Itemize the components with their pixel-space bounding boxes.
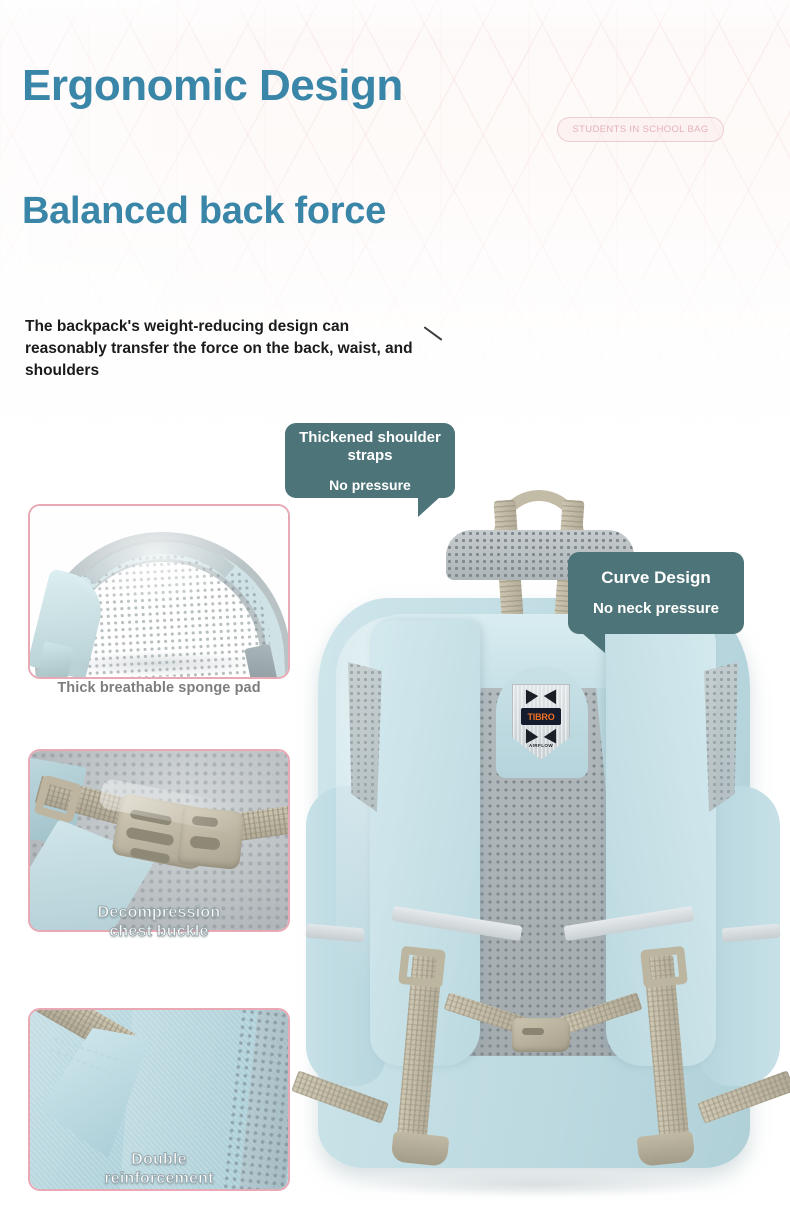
detail-panel-sponge-pad: Thick breathable sponge pad (28, 504, 290, 679)
detail-panel-chest-buckle: Decompression chest buckle (28, 749, 290, 932)
detail-image-chest-buckle (30, 751, 288, 930)
status-badge: STUDENTS IN SCHOOL BAG (557, 117, 724, 142)
detail-panel-double-reinforcement: Double reinforcement (28, 1008, 290, 1191)
chest-buckle-slot (522, 1028, 544, 1035)
page-subtitle: Balanced back force (22, 192, 386, 230)
airflow-label: AIRFLOW (529, 743, 553, 748)
brand-chip: TIBRO (521, 708, 561, 725)
brand-name: TIBRO (528, 712, 555, 722)
strap-pad-gloss (67, 517, 263, 620)
detail-image-sponge-pad (30, 506, 288, 677)
side-mesh-right (704, 662, 738, 812)
callout-thickened-shoulder-straps: Thickened shoulder straps No pressure (285, 423, 455, 498)
callout-tail-icon (418, 497, 440, 517)
side-mesh-left (348, 662, 382, 812)
callout-line-2: No neck pressure (593, 600, 719, 618)
callout-tail-icon (582, 633, 605, 653)
backpack-shadow (356, 1172, 716, 1198)
callout-line-1: Thickened shoulder straps (295, 429, 445, 464)
page-title: Ergonomic Design (22, 64, 403, 108)
strap-adjuster-left (398, 946, 446, 988)
chest-buckle (512, 1018, 570, 1052)
airflow-arrows-top-icon (521, 691, 561, 707)
callout-line-2: No pressure (329, 477, 411, 494)
strap-pad-shadow (60, 651, 260, 677)
infographic-page: Ergonomic Design STUDENTS IN SCHOOL BAG … (0, 0, 790, 1221)
body-copy: The backpack's weight-reducing design ca… (25, 316, 425, 382)
detail-image-double-reinforcement (30, 1010, 288, 1189)
airflow-arrows-bottom-icon (521, 726, 561, 742)
callout-curve-design: Curve Design No neck pressure (568, 552, 744, 634)
callout-line-1: Curve Design (601, 568, 711, 588)
strap-adjuster-right (640, 946, 688, 988)
